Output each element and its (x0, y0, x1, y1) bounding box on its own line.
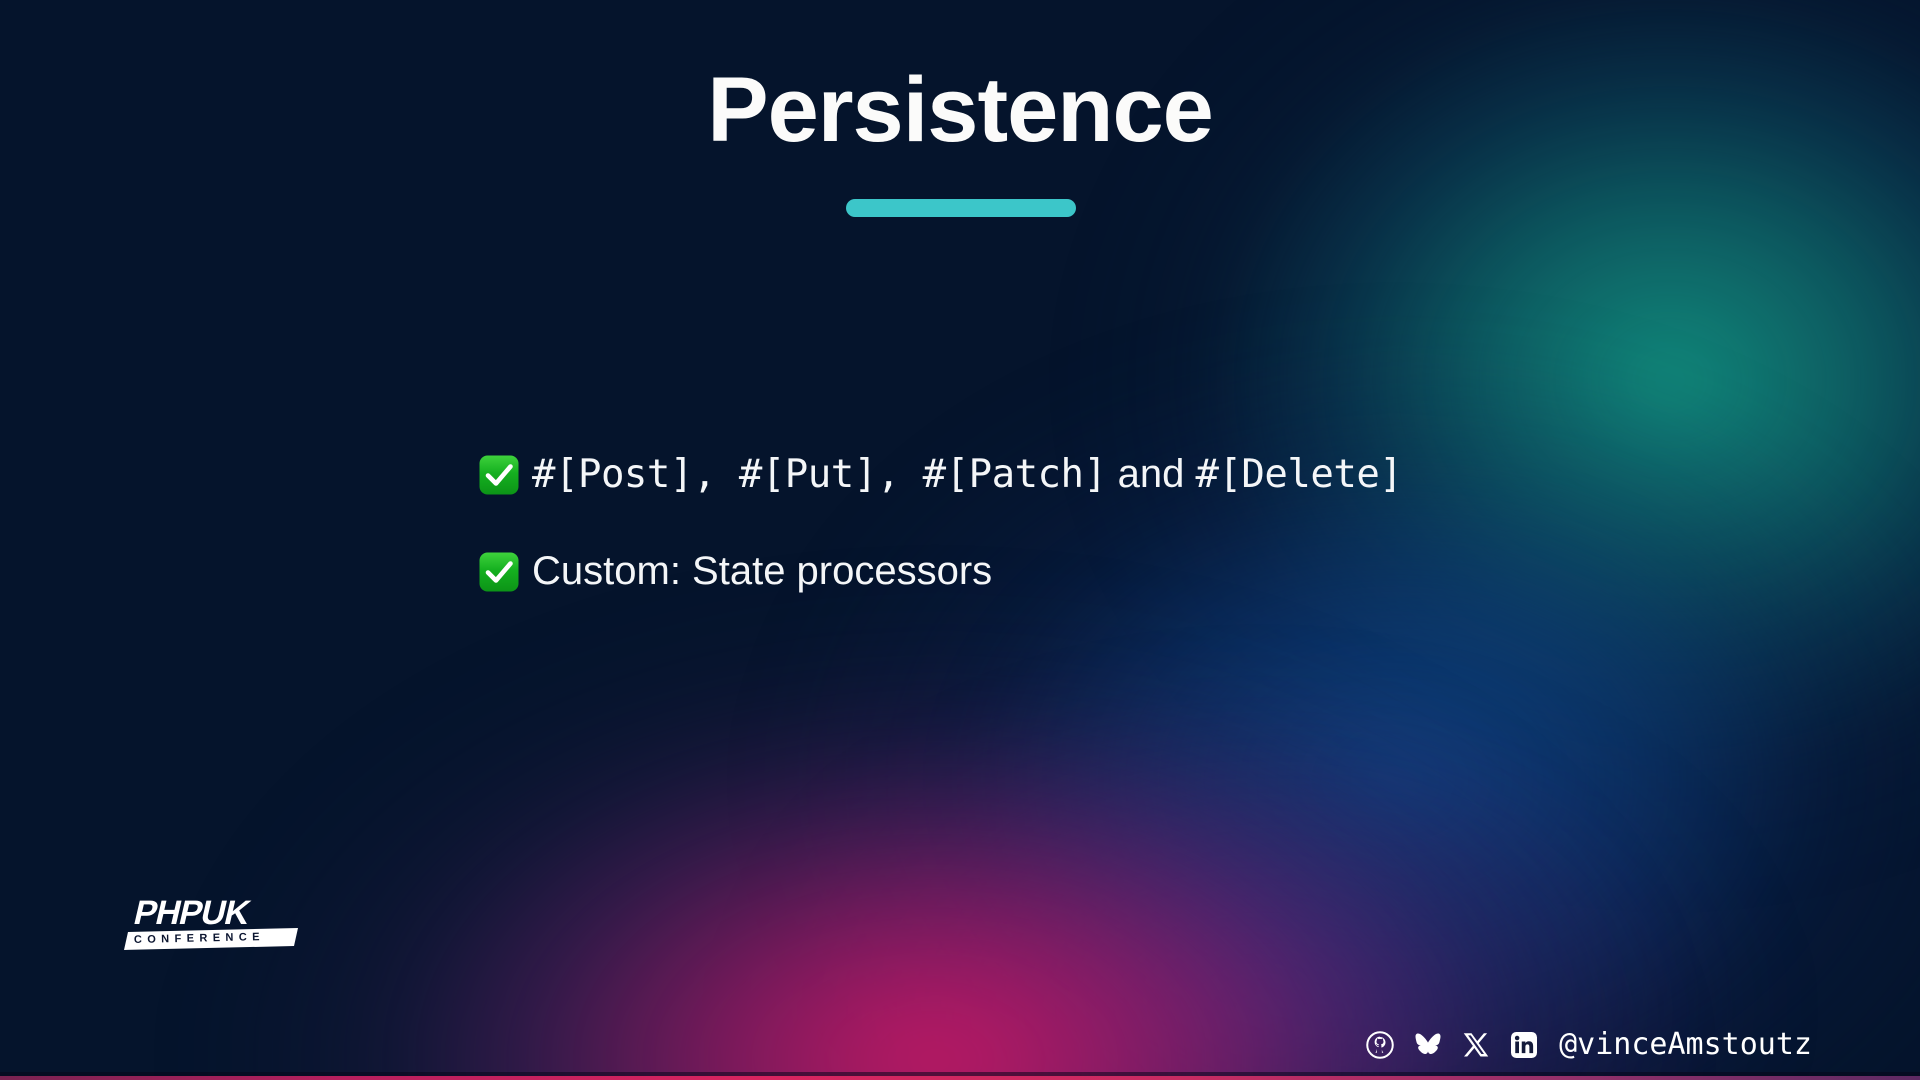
list-item: #[Post], #[Put], #[Patch] and #[Delete] (478, 452, 1678, 497)
white-check-mark-emoji (478, 551, 520, 593)
bullet-list: #[Post], #[Put], #[Patch] and #[Delete] (478, 452, 1678, 645)
linkedin-icon[interactable] (1509, 1030, 1539, 1060)
white-check-mark-emoji (478, 454, 520, 496)
bluesky-icon[interactable] (1413, 1030, 1443, 1060)
list-item-label: Custom: State processors (532, 549, 992, 593)
x-icon[interactable] (1461, 1030, 1491, 1060)
list-item-label: #[Post], #[Put], #[Patch] and #[Delete] (532, 452, 1402, 497)
bullet-2-segment-0: Custom: State processors (532, 549, 992, 593)
social-handle-block: @vinceAmstoutz (1365, 1027, 1812, 1062)
bullet-1-segment-2: #[Delete] (1195, 452, 1402, 497)
social-handle-text: @vinceAmstoutz (1559, 1027, 1812, 1062)
title-underline-accent (846, 199, 1076, 217)
slide-root: Persistence (0, 0, 1920, 1080)
slide-content: Persistence (0, 0, 1920, 1080)
page-title: Persistence (0, 62, 1920, 159)
bullet-1-segment-1: and (1107, 452, 1196, 496)
bullet-1-segment-0: #[Post], #[Put], #[Patch] (532, 452, 1107, 497)
list-item: Custom: State processors (478, 549, 1678, 593)
svg-text:PHPUK: PHPUK (130, 894, 254, 932)
phpuk-logo: PHPUK CONFERENCE (122, 890, 300, 952)
social-icon-row (1365, 1030, 1539, 1060)
github-icon[interactable] (1365, 1030, 1395, 1060)
